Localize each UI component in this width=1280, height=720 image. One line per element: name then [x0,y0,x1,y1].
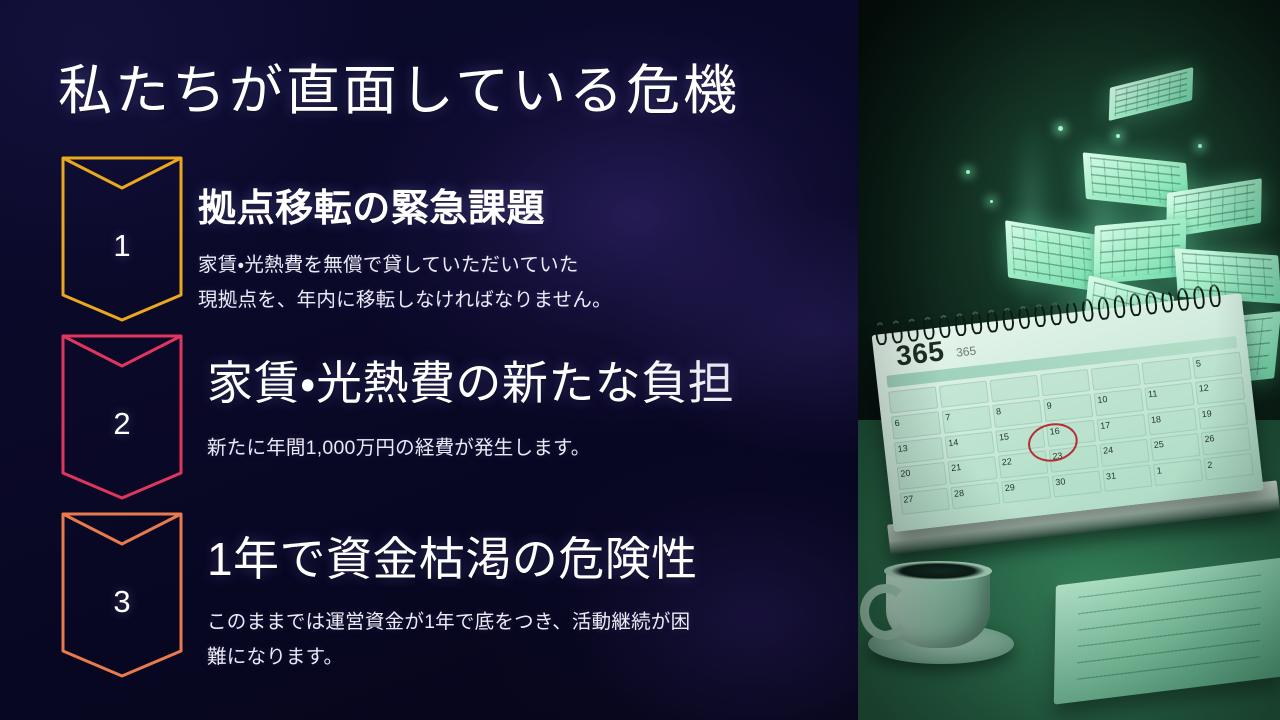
spiral-ring [874,322,888,346]
item-body: このままでは運営資金が1年で底をつき、活動継続が困 難になります。 [207,605,838,674]
item-body-line: このままでは運営資金が1年で底をつき、活動継続が困 [207,605,838,640]
desk-calendar: 365 365 56789101112131415161718192021222… [870,283,1263,532]
calendar-photo: 365 365 56789101112131415161718192021222… [858,0,1280,720]
item-body: 新たに年間1,000万円の経費が発生します。 [207,431,838,466]
spiral-ring [1097,296,1111,320]
spark [966,170,970,174]
flying-page [1094,218,1187,284]
item-body: 家賃・光熱費を無償で貸していただいていた 現拠点を、年内に移転しなければなりませ… [198,248,838,317]
spiral-ring [1208,284,1222,308]
calendar-day-cell: 19 [1198,402,1248,430]
spiral-ring [985,309,999,333]
spiral-ring [954,313,968,337]
spiral-ring [970,311,984,335]
calendar-day-cell: 17 [1097,414,1147,442]
calendar-day-cell: 9 [1043,394,1093,422]
spiral-ring [1192,285,1206,309]
calendar-day-cell: 8 [992,400,1042,428]
spark [990,200,993,203]
list-item: 3 1年で資金枯渇の危険性 このままでは運営資金が1年で底をつき、活動継続が困 … [0,511,858,689]
spiral-ring [1033,304,1047,328]
item-heading: 1年で資金枯渇の危険性 [207,523,838,589]
spiral-ring [922,316,936,340]
spiral-ring [1129,293,1143,317]
item-text-block: 1年で資金枯渇の危険性 このままでは運営資金が1年で底をつき、活動継続が困 難に… [207,523,838,674]
ribbon-badge-1: 1 [60,155,184,323]
calendar-day-cell [1091,363,1141,391]
item-heading: 家賃・光熱費の新たな負担 [207,347,838,413]
calendar-day-cell: 27 [900,487,950,515]
calendar-day-cell: 24 [1099,439,1149,467]
calendar-day-cell: 7 [942,406,992,434]
calendar-day-cell: 12 [1195,377,1245,405]
spiral-ring [1001,307,1015,331]
calendar-day-cell: 13 [894,437,944,465]
calendar-day-cell [888,386,938,414]
item-body-line: 新たに年間1,000万円の経費が発生します。 [207,431,838,466]
cup-rim [884,561,992,581]
item-body-line: 現拠点を、年内に移転しなければなりません。 [198,283,838,318]
calendar-day-cell: 18 [1147,408,1197,436]
calendar-subtitle: 365 [955,344,976,360]
spark [1116,134,1120,138]
item-body-line: 難になります。 [207,640,838,675]
spiral-ring [938,314,952,338]
badge-number: 1 [60,155,184,323]
spark [1036,238,1039,241]
spiral-ring [890,320,904,344]
spark [1058,126,1063,131]
slide-root: 私たちが直面している危機 1 拠点移転の緊急課題 家賃・光熱費を無償で貸していた… [0,0,1280,720]
ribbon-badge-2: 2 [60,333,184,501]
spiral-ring [906,318,920,342]
spark [1198,144,1202,148]
calendar-day-cell: 21 [947,456,997,484]
page-title: 私たちが直面している危機 [58,60,740,124]
calendar-day-cell: 5 [1192,352,1242,380]
spiral-ring [1081,298,1095,322]
coffee-cup [886,568,990,648]
calendar-day-cell: 11 [1144,383,1194,411]
calendar-day-cell: 10 [1094,388,1144,416]
badge-number: 3 [60,511,184,679]
item-heading: 拠点移転の緊急課題 [198,177,838,232]
list-item: 1 拠点移転の緊急課題 家賃・光熱費を無償で貸していただいていた 現拠点を、年内… [0,155,858,333]
item-text-block: 家賃・光熱費の新たな負担 新たに年間1,000万円の経費が発生します。 [207,347,838,466]
spiral-ring [1049,302,1063,326]
spiral-ring [1113,294,1127,318]
item-body-line: 家賃・光熱費を無償で貸していただいていた [198,248,838,283]
flying-page [1109,67,1194,121]
spiral-ring [1144,291,1158,315]
left-content-panel: 私たちが直面している危機 1 拠点移転の緊急課題 家賃・光熱費を無償で貸していた… [0,0,858,720]
spiral-ring [1176,287,1190,311]
calendar-day-cell: 6 [891,412,941,440]
calendar-day-cell [939,381,989,409]
spiral-ring [1017,305,1031,329]
calendar-day-cell: 31 [1102,464,1152,492]
calendar-day-cell: 25 [1150,433,1200,461]
calendar-day-cell: 30 [1052,470,1102,498]
calendar-day-cell: 1 [1153,458,1203,486]
ribbon-badge-3: 3 [60,511,184,679]
spiral-ring [1160,289,1174,313]
calendar-day-cell: 26 [1201,427,1251,455]
badge-number: 2 [60,333,184,501]
calendar-day-cell: 20 [897,462,947,490]
calendar-day-cell: 14 [945,431,995,459]
calendar-day-cell [989,375,1039,403]
calendar-day-cell [1141,357,1191,385]
crisis-item-list: 1 拠点移転の緊急課題 家賃・光熱費を無償で貸していただいていた 現拠点を、年内… [0,155,858,689]
calendar-day-cell: 28 [950,482,1000,510]
calendar-day-cell: 29 [1001,476,1051,504]
spiral-ring [1065,300,1079,324]
item-text-block: 拠点移転の緊急課題 家賃・光熱費を無償で貸していただいていた 現拠点を、年内に移… [198,177,838,317]
calendar-day-cell [1040,369,1090,397]
list-item: 2 家賃・光熱費の新たな負担 新たに年間1,000万円の経費が発生します。 [0,333,858,511]
calendar-day-cell: 2 [1204,453,1254,481]
